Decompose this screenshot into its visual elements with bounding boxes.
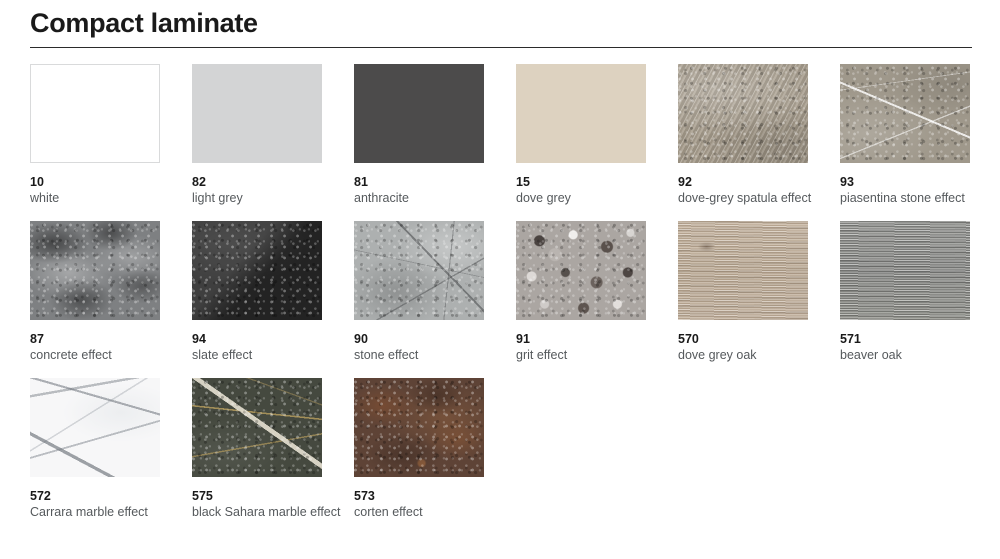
swatch-chip[interactable] <box>354 378 484 477</box>
swatch-code: 570 <box>678 331 828 347</box>
swatch-code: 571 <box>840 331 990 347</box>
swatch-chip[interactable] <box>30 221 160 320</box>
swatch-name: beaver oak <box>840 347 990 363</box>
swatch-chip[interactable] <box>516 221 646 320</box>
swatch-caption: 572Carrara marble effect <box>30 488 180 520</box>
swatch-cell[interactable]: 82light grey <box>192 64 354 221</box>
swatch-name: dove grey <box>516 190 666 206</box>
swatch-cell[interactable]: 571beaver oak <box>840 221 1000 378</box>
swatch-chip[interactable] <box>840 64 970 163</box>
swatch-chip[interactable] <box>354 64 484 163</box>
swatch-caption: 93piasentina stone effect <box>840 174 990 206</box>
swatch-code: 572 <box>30 488 180 504</box>
swatch-cell[interactable]: 572Carrara marble effect <box>30 378 192 535</box>
swatch-code: 87 <box>30 331 180 347</box>
swatch-cell[interactable]: 10white <box>30 64 192 221</box>
page-title: Compact laminate <box>30 4 258 42</box>
swatch-caption: 81anthracite <box>354 174 504 206</box>
swatch-code: 93 <box>840 174 990 190</box>
swatch-chip[interactable] <box>192 64 322 163</box>
swatch-grid: 10white82light grey81anthracite15dove gr… <box>30 64 990 535</box>
swatch-caption: 87concrete effect <box>30 331 180 363</box>
swatch-code: 15 <box>516 174 666 190</box>
swatch-caption: 90stone effect <box>354 331 504 363</box>
swatch-code: 92 <box>678 174 828 190</box>
swatch-cell[interactable]: 93piasentina stone effect <box>840 64 1000 221</box>
swatch-name: corten effect <box>354 504 504 520</box>
swatch-name: white <box>30 190 180 206</box>
swatch-code: 91 <box>516 331 666 347</box>
swatch-name: slate effect <box>192 347 342 363</box>
swatch-cell[interactable]: 94slate effect <box>192 221 354 378</box>
swatch-chip[interactable] <box>678 221 808 320</box>
swatch-chip[interactable] <box>192 221 322 320</box>
swatch-cell[interactable]: 81anthracite <box>354 64 516 221</box>
swatch-cell[interactable]: 87concrete effect <box>30 221 192 378</box>
swatch-code: 575 <box>192 488 342 504</box>
swatch-cell[interactable]: 575black Sahara marble effect <box>192 378 354 535</box>
swatch-chip[interactable] <box>30 64 160 163</box>
swatch-code: 573 <box>354 488 504 504</box>
swatch-code: 81 <box>354 174 504 190</box>
swatch-code: 82 <box>192 174 342 190</box>
swatch-code: 90 <box>354 331 504 347</box>
swatch-name: Carrara marble effect <box>30 504 180 520</box>
swatch-name: dove grey oak <box>678 347 828 363</box>
swatch-cell[interactable]: 92dove-grey spatula effect <box>678 64 840 221</box>
swatch-caption: 15dove grey <box>516 174 666 206</box>
swatch-caption: 570dove grey oak <box>678 331 828 363</box>
swatch-chip[interactable] <box>30 378 160 477</box>
swatch-caption: 82light grey <box>192 174 342 206</box>
swatch-chip[interactable] <box>840 221 970 320</box>
compact-laminate-page: Compact laminate 10white82light grey81an… <box>0 0 1000 559</box>
swatch-name: grit effect <box>516 347 666 363</box>
swatch-caption: 571beaver oak <box>840 331 990 363</box>
swatch-name: black Sahara marble effect <box>192 504 342 520</box>
swatch-name: light grey <box>192 190 342 206</box>
swatch-caption: 575black Sahara marble effect <box>192 488 342 520</box>
swatch-caption: 10white <box>30 174 180 206</box>
swatch-name: piasentina stone effect <box>840 190 990 206</box>
swatch-caption: 91grit effect <box>516 331 666 363</box>
swatch-caption: 573corten effect <box>354 488 504 520</box>
swatch-code: 10 <box>30 174 180 190</box>
swatch-cell[interactable]: 15dove grey <box>516 64 678 221</box>
swatch-name: concrete effect <box>30 347 180 363</box>
swatch-name: dove-grey spatula effect <box>678 190 828 206</box>
swatch-cell[interactable]: 573corten effect <box>354 378 516 535</box>
swatch-caption: 92dove-grey spatula effect <box>678 174 828 206</box>
swatch-cell[interactable]: 90stone effect <box>354 221 516 378</box>
swatch-chip[interactable] <box>192 378 322 477</box>
swatch-chip[interactable] <box>354 221 484 320</box>
swatch-name: anthracite <box>354 190 504 206</box>
swatch-cell[interactable]: 91grit effect <box>516 221 678 378</box>
swatch-chip[interactable] <box>516 64 646 163</box>
swatch-name: stone effect <box>354 347 504 363</box>
swatch-code: 94 <box>192 331 342 347</box>
swatch-caption: 94slate effect <box>192 331 342 363</box>
swatch-cell[interactable]: 570dove grey oak <box>678 221 840 378</box>
swatch-chip[interactable] <box>678 64 808 163</box>
title-divider <box>30 47 972 48</box>
